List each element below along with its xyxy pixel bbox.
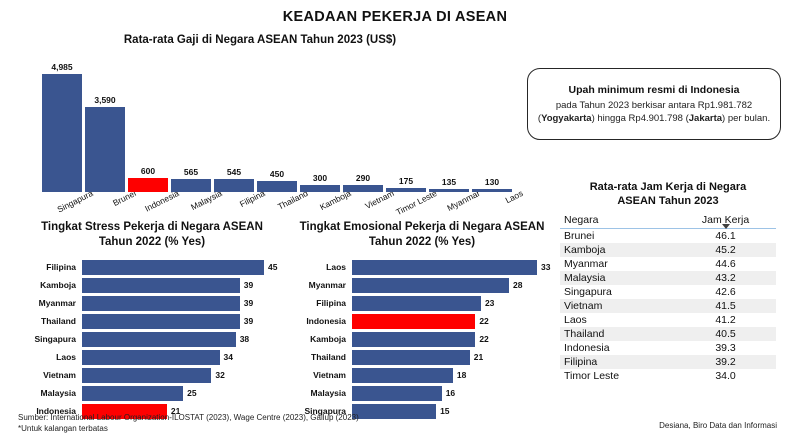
salary-bar-group: 135 — [429, 74, 469, 192]
bar-row: Malaysia16 — [288, 386, 556, 402]
salary-bar-group: 3,590 — [85, 74, 125, 192]
emotional-title-line-1: Tingkat Emosional Pekerja di Negara ASEA… — [288, 220, 556, 235]
table-row: Brunei46.1 — [560, 229, 776, 244]
salary-chart-title: Rata-rata Gaji di Negara ASEAN Tahun 202… — [110, 34, 410, 46]
source-line-1: Sumber: International Labour Organizatio… — [18, 412, 359, 423]
table-row: Timor Leste34.0 — [560, 369, 776, 383]
callout-line-1: pada Tahun 2023 berkisar antara Rp1.981.… — [556, 99, 752, 112]
salary-bar — [128, 178, 168, 192]
work-hours-table-head: Negara Jam Kerja — [560, 214, 776, 229]
bar-row: Malaysia25 — [18, 386, 286, 402]
bar-category-label: Thailand — [18, 316, 76, 326]
bar-row: Thailand39 — [18, 314, 286, 330]
emotional-plot-area: Laos33Myanmar28Filipina23Indonesia22Kamb… — [288, 260, 556, 420]
bar-row: Singapura38 — [18, 332, 286, 348]
salary-bar — [300, 185, 340, 192]
salary-bar-value: 545 — [214, 167, 254, 177]
bar-fill — [352, 332, 475, 347]
bar-value-label: 33 — [541, 262, 550, 272]
table-header-row: Negara Jam Kerja — [560, 214, 776, 229]
salary-bar-group: 300 — [300, 74, 340, 192]
bar-fill — [352, 314, 475, 329]
bar-category-label: Indonesia — [288, 316, 346, 326]
salary-bar-value: 600 — [128, 166, 168, 176]
cell-work-hours: 39.3 — [675, 341, 776, 355]
cell-work-hours: 43.2 — [675, 271, 776, 285]
cell-country: Kamboja — [560, 243, 675, 257]
column-header-negara[interactable]: Negara — [560, 214, 675, 229]
table-row: Malaysia43.2 — [560, 271, 776, 285]
bar-row: Filipina45 — [18, 260, 286, 276]
bar-category-label: Singapura — [18, 334, 76, 344]
cell-work-hours: 39.2 — [675, 355, 776, 369]
salary-bar-group: 565 — [171, 74, 211, 192]
salary-bar-group: 175 — [386, 74, 426, 192]
bar-value-label: 28 — [513, 280, 522, 290]
minimum-wage-callout: Upah minimum resmi di Indonesia pada Tah… — [527, 68, 781, 140]
source-note: Sumber: International Labour Organizatio… — [18, 412, 359, 434]
bar-value-label: 45 — [268, 262, 277, 272]
emotional-bar-chart: Tingkat Emosional Pekerja di Negara ASEA… — [288, 220, 556, 422]
bar-value-label: 32 — [215, 370, 224, 380]
bar-row: Indonesia22 — [288, 314, 556, 330]
bar-value-label: 39 — [244, 298, 253, 308]
bar-category-label: Filipina — [18, 262, 76, 272]
bar-category-label: Vietnam — [288, 370, 346, 380]
salary-bar-group: 290 — [343, 74, 383, 192]
salary-bar-value: 3,590 — [85, 95, 125, 105]
callout-city-jakarta: Jakarta — [689, 113, 722, 124]
bar-fill — [352, 278, 509, 293]
salary-bar — [85, 107, 125, 192]
cell-country: Thailand — [560, 327, 675, 341]
infographic-root: KEADAAN PEKERJA DI ASEAN Rata-rata Gaji … — [0, 0, 791, 443]
bar-value-label: 22 — [479, 334, 488, 344]
bar-row: Laos34 — [18, 350, 286, 366]
cell-country: Singapura — [560, 285, 675, 299]
bar-row: Thailand21 — [288, 350, 556, 366]
salary-bar-value: 135 — [429, 177, 469, 187]
work-hours-panel: Rata-rata Jam Kerja di Negara ASEAN Tahu… — [560, 180, 776, 383]
salary-bar — [472, 189, 512, 192]
bar-row: Myanmar39 — [18, 296, 286, 312]
cell-work-hours: 41.5 — [675, 299, 776, 313]
work-hours-title-line-1: Rata-rata Jam Kerja di Negara — [560, 180, 776, 194]
bar-fill — [82, 260, 264, 275]
bar-category-label: Kamboja — [18, 280, 76, 290]
emotional-title-line-2: Tahun 2022 (% Yes) — [288, 235, 556, 250]
bar-fill — [352, 260, 537, 275]
stress-title-line-1: Tingkat Stress Pekerja di Negara ASEAN — [18, 220, 286, 235]
bar-row: Filipina23 — [288, 296, 556, 312]
stress-bar-chart: Tingkat Stress Pekerja di Negara ASEAN T… — [18, 220, 286, 422]
callout-suffix-text: ) per bulan. — [722, 113, 770, 124]
salary-bar — [386, 188, 426, 192]
page-title: KEADAAN PEKERJA DI ASEAN — [250, 9, 540, 25]
salary-bar-value: 130 — [472, 177, 512, 187]
salary-bar-group: 4,985 — [42, 74, 82, 192]
callout-line-2: (Yogyakarta) hingga Rp4.901.798 (Jakarta… — [538, 112, 770, 125]
bar-fill — [352, 350, 470, 365]
bar-value-label: 39 — [244, 316, 253, 326]
callout-city-yogyakarta: Yogyakarta — [541, 113, 592, 124]
salary-bar — [429, 189, 469, 192]
cell-work-hours: 42.6 — [675, 285, 776, 299]
salary-bar-value: 290 — [343, 173, 383, 183]
bar-value-label: 39 — [244, 280, 253, 290]
bar-fill — [352, 296, 481, 311]
cell-work-hours: 46.1 — [675, 229, 776, 244]
cell-country: Laos — [560, 313, 675, 327]
bar-category-label: Vietnam — [18, 370, 76, 380]
work-hours-table: Negara Jam Kerja Brunei46.1Kamboja45.2My… — [560, 214, 776, 383]
cell-country: Timor Leste — [560, 369, 675, 383]
stress-title-line-2: Tahun 2022 (% Yes) — [18, 235, 286, 250]
table-row: Kamboja45.2 — [560, 243, 776, 257]
bar-row: Myanmar28 — [288, 278, 556, 294]
bar-fill — [82, 368, 211, 383]
work-hours-table-title: Rata-rata Jam Kerja di Negara ASEAN Tahu… — [560, 180, 776, 208]
bar-category-label: Myanmar — [18, 298, 76, 308]
table-row: Laos41.2 — [560, 313, 776, 327]
bar-value-label: 34 — [224, 352, 233, 362]
cell-work-hours: 34.0 — [675, 369, 776, 383]
cell-country: Indonesia — [560, 341, 675, 355]
table-row: Vietnam41.5 — [560, 299, 776, 313]
table-row: Singapura42.6 — [560, 285, 776, 299]
cell-work-hours: 40.5 — [675, 327, 776, 341]
stress-plot-area: Filipina45Kamboja39Myanmar39Thailand39Si… — [18, 260, 286, 420]
bar-fill — [352, 386, 442, 401]
callout-heading: Upah minimum resmi di Indonesia — [569, 84, 740, 96]
emotional-chart-title: Tingkat Emosional Pekerja di Negara ASEA… — [288, 220, 556, 250]
callout-mid-text: ) hingga Rp4.901.798 ( — [592, 113, 689, 124]
bar-value-label: 16 — [446, 388, 455, 398]
cell-work-hours: 45.2 — [675, 243, 776, 257]
bar-fill — [82, 314, 240, 329]
bar-value-label: 25 — [187, 388, 196, 398]
salary-column-chart: 4,985Singapura3,590Brunei600Indonesia565… — [0, 52, 520, 192]
bar-fill — [82, 332, 236, 347]
bar-category-label: Laos — [18, 352, 76, 362]
sort-descending-icon[interactable] — [722, 224, 730, 229]
bar-fill — [82, 350, 220, 365]
cell-country: Vietnam — [560, 299, 675, 313]
bar-fill — [82, 296, 240, 311]
bar-category-label: Myanmar — [288, 280, 346, 290]
cell-country: Brunei — [560, 229, 675, 244]
credit-note: Desiana, Biro Data dan Informasi — [659, 421, 777, 430]
bar-value-label: 18 — [457, 370, 466, 380]
bar-row: Laos33 — [288, 260, 556, 276]
bar-category-label: Thailand — [288, 352, 346, 362]
bar-category-label: Laos — [288, 262, 346, 272]
bar-fill — [82, 278, 240, 293]
salary-bar-value: 450 — [257, 169, 297, 179]
bar-value-label: 23 — [485, 298, 494, 308]
bar-row: Vietnam32 — [18, 368, 286, 384]
salary-bar-group: 600 — [128, 74, 168, 192]
bar-fill — [352, 368, 453, 383]
cell-country: Myanmar — [560, 257, 675, 271]
salary-bar-value: 4,985 — [42, 62, 82, 72]
stress-chart-title: Tingkat Stress Pekerja di Negara ASEAN T… — [18, 220, 286, 250]
salary-bar-group: 450 — [257, 74, 297, 192]
bar-category-label: Malaysia — [288, 388, 346, 398]
salary-bar-group: 130 — [472, 74, 512, 192]
cell-country: Malaysia — [560, 271, 675, 285]
bar-fill — [352, 404, 436, 419]
bar-row: Vietnam18 — [288, 368, 556, 384]
bar-category-label: Malaysia — [18, 388, 76, 398]
table-row: Thailand40.5 — [560, 327, 776, 341]
salary-bar-group: 545 — [214, 74, 254, 192]
salary-bar — [42, 74, 82, 192]
salary-bar — [343, 185, 383, 192]
source-line-2: *Untuk kalangan terbatas — [18, 423, 359, 434]
work-hours-table-body: Brunei46.1Kamboja45.2Myanmar44.6Malaysia… — [560, 229, 776, 384]
table-row: Filipina39.2 — [560, 355, 776, 369]
salary-bar — [257, 181, 297, 192]
bar-value-label: 15 — [440, 406, 449, 416]
cell-work-hours: 41.2 — [675, 313, 776, 327]
bar-value-label: 38 — [240, 334, 249, 344]
bar-category-label: Filipina — [288, 298, 346, 308]
cell-country: Filipina — [560, 355, 675, 369]
salary-bar-value: 300 — [300, 173, 340, 183]
salary-bar-value: 175 — [386, 176, 426, 186]
bar-value-label: 21 — [474, 352, 483, 362]
cell-work-hours: 44.6 — [675, 257, 776, 271]
bar-category-label: Kamboja — [288, 334, 346, 344]
table-row: Myanmar44.6 — [560, 257, 776, 271]
column-header-jam-kerja[interactable]: Jam Kerja — [675, 214, 776, 229]
work-hours-title-line-2: ASEAN Tahun 2023 — [560, 194, 776, 208]
salary-bar-value: 565 — [171, 167, 211, 177]
bar-value-label: 22 — [479, 316, 488, 326]
table-row: Indonesia39.3 — [560, 341, 776, 355]
bar-fill — [82, 386, 183, 401]
bar-row: Kamboja22 — [288, 332, 556, 348]
salary-bar — [171, 179, 211, 192]
salary-bar — [214, 179, 254, 192]
bar-row: Kamboja39 — [18, 278, 286, 294]
